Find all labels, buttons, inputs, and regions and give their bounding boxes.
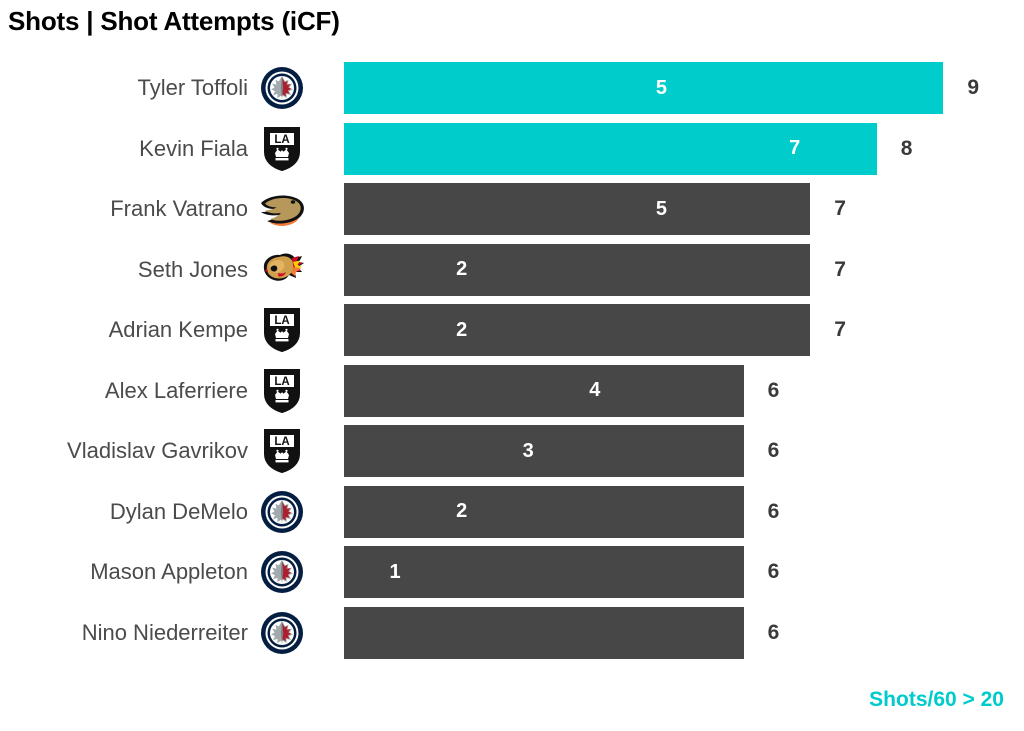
player-name-label: Kevin Fiala <box>139 119 248 180</box>
shots-value-label: 1 <box>389 546 410 598</box>
shots-value-label: 2 <box>456 244 477 296</box>
player-name-label: Alex Laferriere <box>105 361 248 422</box>
shots-value-label: 2 <box>456 304 477 356</box>
team-logo-icon: LA <box>256 368 308 414</box>
chart-row: Kevin FialaLA78 <box>0 119 1024 180</box>
shots-value-label: 3 <box>523 425 544 477</box>
player-name-label: Seth Jones <box>138 240 248 301</box>
chart-row: Seth Jones27 <box>0 240 1024 301</box>
team-logo-icon <box>256 65 308 111</box>
attempts-bar[interactable] <box>344 183 810 235</box>
attempts-bar[interactable] <box>344 425 744 477</box>
chart-row: Frank Vatrano57 <box>0 179 1024 240</box>
team-logo-icon <box>256 489 308 535</box>
chart-row: Alex LaferriereLA46 <box>0 361 1024 422</box>
attempts-bar[interactable] <box>344 486 744 538</box>
attempts-bar[interactable] <box>344 365 744 417</box>
svg-text:LA: LA <box>274 134 289 146</box>
attempts-bar[interactable] <box>344 244 810 296</box>
footer-note: Shots/60 > 20 <box>869 688 1004 712</box>
attempts-bar[interactable] <box>344 62 943 114</box>
attempts-total-label: 6 <box>744 607 780 659</box>
shots-value-label: 5 <box>656 183 677 235</box>
team-logo-icon: LA <box>256 428 308 474</box>
chart-row: Tyler Toffoli59 <box>0 58 1024 119</box>
attempts-total-label: 7 <box>810 244 846 296</box>
chart-row: Nino Niederreiter6 <box>0 603 1024 664</box>
chart-row: Mason Appleton16 <box>0 542 1024 603</box>
player-name-label: Vladislav Gavrikov <box>67 421 248 482</box>
attempts-total-label: 6 <box>744 486 780 538</box>
player-name-label: Adrian Kempe <box>109 300 248 361</box>
attempts-total-label: 8 <box>877 123 913 175</box>
player-name-label: Dylan DeMelo <box>110 482 248 543</box>
bar-chart-rows: Tyler Toffoli59Kevin FialaLA78Frank Vatr… <box>0 58 1024 663</box>
shots-value-label: 2 <box>456 486 477 538</box>
attempts-total-label: 6 <box>744 365 780 417</box>
shots-value-label: 4 <box>589 365 610 417</box>
team-logo-icon: LA <box>256 307 308 353</box>
attempts-total-label: 9 <box>943 62 979 114</box>
svg-text:LA: LA <box>274 315 289 327</box>
chart-row: Adrian KempeLA27 <box>0 300 1024 361</box>
attempts-bar[interactable] <box>344 607 744 659</box>
page-title: Shots | Shot Attempts (iCF) <box>8 6 340 37</box>
chart-row: Dylan DeMelo26 <box>0 482 1024 543</box>
attempts-bar[interactable] <box>344 304 810 356</box>
attempts-total-label: 6 <box>744 425 780 477</box>
shots-value-label: 5 <box>656 62 677 114</box>
player-name-label: Tyler Toffoli <box>138 58 248 119</box>
team-logo-icon <box>256 186 308 232</box>
attempts-total-label: 7 <box>810 304 846 356</box>
chart-row: Vladislav GavrikovLA36 <box>0 421 1024 482</box>
team-logo-icon: LA <box>256 126 308 172</box>
shots-value-label: 7 <box>789 123 810 175</box>
player-name-label: Nino Niederreiter <box>82 603 248 664</box>
attempts-total-label: 7 <box>810 183 846 235</box>
svg-text:LA: LA <box>274 436 289 448</box>
player-name-label: Frank Vatrano <box>110 179 248 240</box>
team-logo-icon <box>256 549 308 595</box>
attempts-total-label: 6 <box>744 546 780 598</box>
player-name-label: Mason Appleton <box>90 542 248 603</box>
team-logo-icon <box>256 247 308 293</box>
team-logo-icon <box>256 610 308 656</box>
svg-text:LA: LA <box>274 376 289 388</box>
